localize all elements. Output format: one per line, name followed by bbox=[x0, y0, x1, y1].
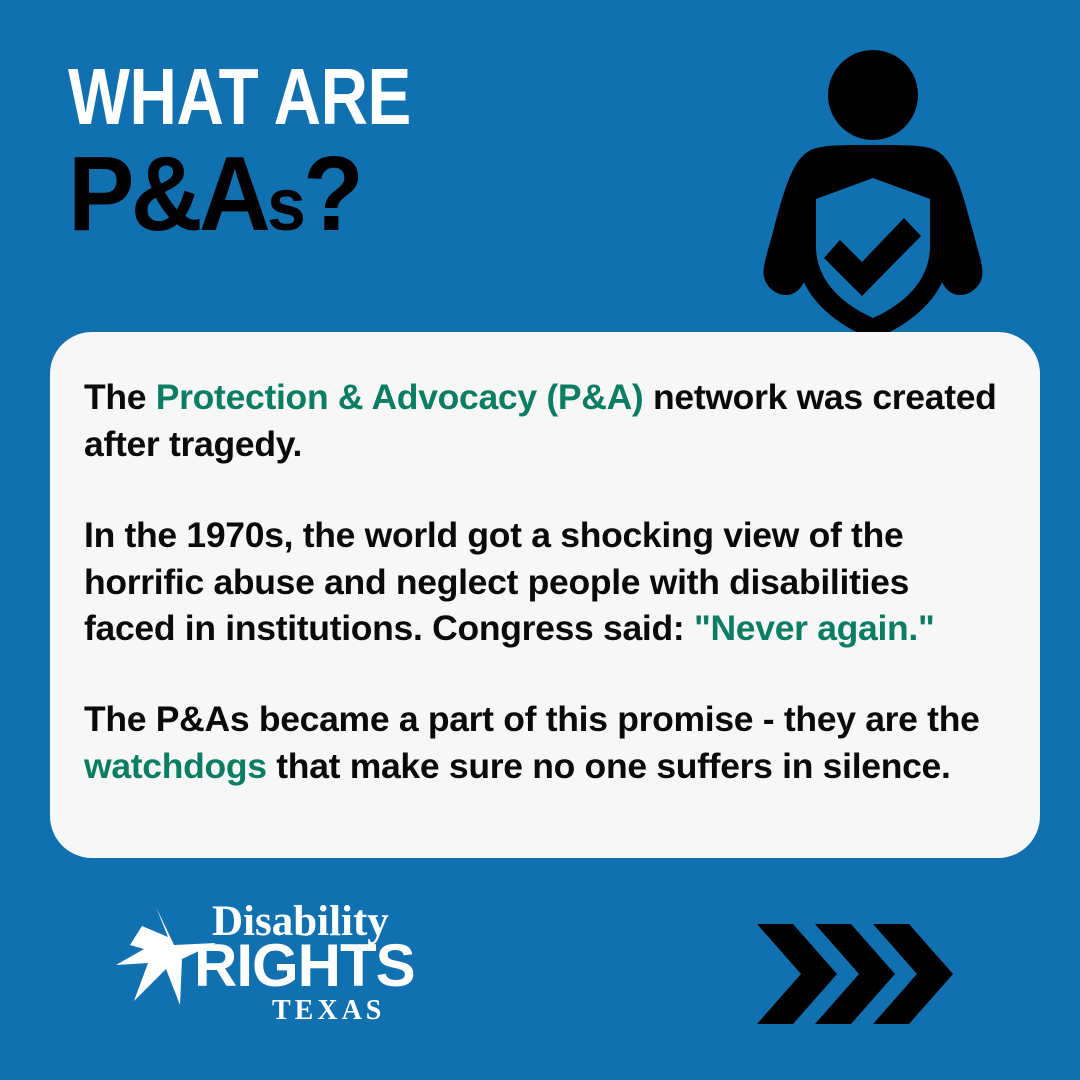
poster-canvas: WHAT ARE P&As? The Protection & Advocacy… bbox=[0, 0, 1080, 1080]
title-line-2-small: s bbox=[267, 163, 303, 246]
paragraph-3-run-3: that make sure no one suffers in silence… bbox=[267, 746, 951, 786]
content-card: The Protection & Advocacy (P&A) network … bbox=[50, 332, 1040, 858]
paragraph-1-run-2-accent: Protection & Advocacy (P&A) bbox=[156, 377, 644, 417]
paragraph-2-run-2-accent: "Never again." bbox=[694, 608, 935, 648]
paragraph-3-run-2-accent: watchdogs bbox=[84, 746, 267, 786]
logo-text-texas: TEXAS bbox=[272, 995, 385, 1026]
person-holding-shield-check-icon bbox=[744, 32, 1002, 342]
paragraph-1-run-1: The bbox=[84, 377, 156, 417]
paragraph-1: The Protection & Advocacy (P&A) network … bbox=[84, 374, 1006, 468]
title-line-2-main: P&A bbox=[68, 135, 267, 253]
chevron-1 bbox=[757, 924, 837, 1024]
triple-chevron-right-icon[interactable] bbox=[755, 922, 970, 1026]
title-line-1: WHAT ARE bbox=[68, 58, 560, 136]
paragraph-2: In the 1970s, the world got a shocking v… bbox=[84, 512, 1006, 653]
paragraph-3: The P&As became a part of this promise -… bbox=[84, 696, 1006, 790]
title-line-2-question-mark: ? bbox=[303, 135, 362, 253]
disability-rights-texas-logo: Disability RIGHTS TEXAS bbox=[112, 893, 422, 1028]
logo-text-rights: RIGHTS bbox=[194, 932, 415, 999]
page-title: WHAT ARE P&As? bbox=[68, 58, 668, 249]
title-line-2: P&As? bbox=[68, 140, 632, 248]
paragraph-3-run-1: The P&As became a part of this promise -… bbox=[84, 699, 980, 739]
card-body-text: The Protection & Advocacy (P&A) network … bbox=[84, 374, 1006, 790]
